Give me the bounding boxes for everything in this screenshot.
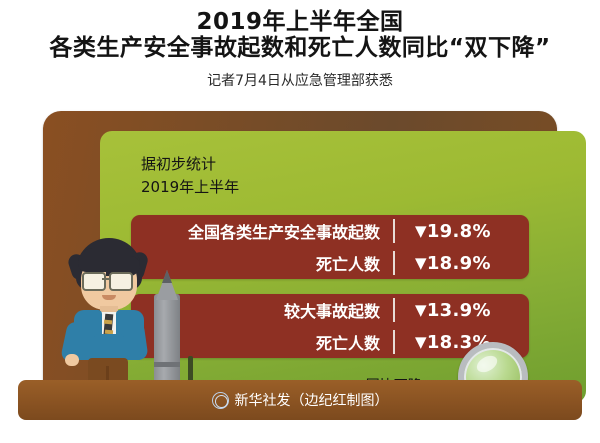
down-arrow-icon: ▼ — [415, 301, 427, 319]
board-ledge: 新华社发（边纪红制图） — [18, 380, 582, 420]
glasses-left-lens-icon — [82, 272, 106, 291]
glasses-bridge-icon — [102, 278, 109, 280]
row-percent: 13.9% — [427, 300, 491, 321]
page-subtitle: 记者7月4日从应急管理部获悉 — [0, 62, 600, 90]
page-title-line-2: 各类生产安全事故起数和死亡人数同比“双下降” — [0, 36, 600, 62]
row-divider — [393, 298, 395, 322]
row-percent: 19.8% — [427, 221, 491, 242]
pencil-lead-icon — [162, 270, 172, 283]
board-intro-text: 据初步统计 2019年上半年 — [141, 153, 239, 198]
table-row: 死亡人数 ▼18.9% — [131, 247, 529, 279]
down-arrow-icon: ▼ — [415, 333, 427, 351]
credit-text: 新华社发（边纪红制图） — [235, 390, 389, 410]
page-title-line-1: 2019年上半年全国 — [0, 0, 600, 36]
title-block: 2019年上半年全国 各类生产安全事故起数和死亡人数同比“双下降” 记者7月4日… — [0, 0, 600, 100]
magnifier-glint — [474, 352, 500, 375]
down-arrow-icon: ▼ — [415, 254, 427, 272]
credit-line: 新华社发（边纪红制图） — [18, 380, 582, 420]
row-divider — [393, 330, 395, 354]
pencil-band-icon — [154, 362, 180, 367]
xinhua-logo-icon — [212, 392, 229, 409]
row-value: ▼19.8% — [393, 221, 491, 242]
table-row: 较大事故起数 ▼13.9% — [131, 294, 529, 326]
glasses-right-lens-icon — [109, 272, 133, 291]
stats-panel-primary: 全国各类生产安全事故起数 ▼19.8% 死亡人数 ▼18.9% — [131, 215, 529, 279]
table-row: 全国各类生产安全事故起数 ▼19.8% — [131, 215, 529, 247]
row-label: 全国各类生产安全事故起数 — [131, 219, 393, 243]
hand-left-icon — [65, 354, 79, 366]
row-divider — [393, 219, 395, 243]
row-value: ▼18.9% — [393, 253, 491, 274]
row-percent: 18.9% — [427, 253, 491, 274]
chalkboard-illustration: 据初步统计 2019年上半年 全国各类生产安全事故起数 ▼19.8% 死亡人数 … — [0, 104, 600, 443]
necktie-stripe-icon — [104, 320, 112, 325]
down-arrow-icon: ▼ — [415, 222, 427, 240]
row-value: ▼13.9% — [393, 300, 491, 321]
row-divider — [393, 251, 395, 275]
